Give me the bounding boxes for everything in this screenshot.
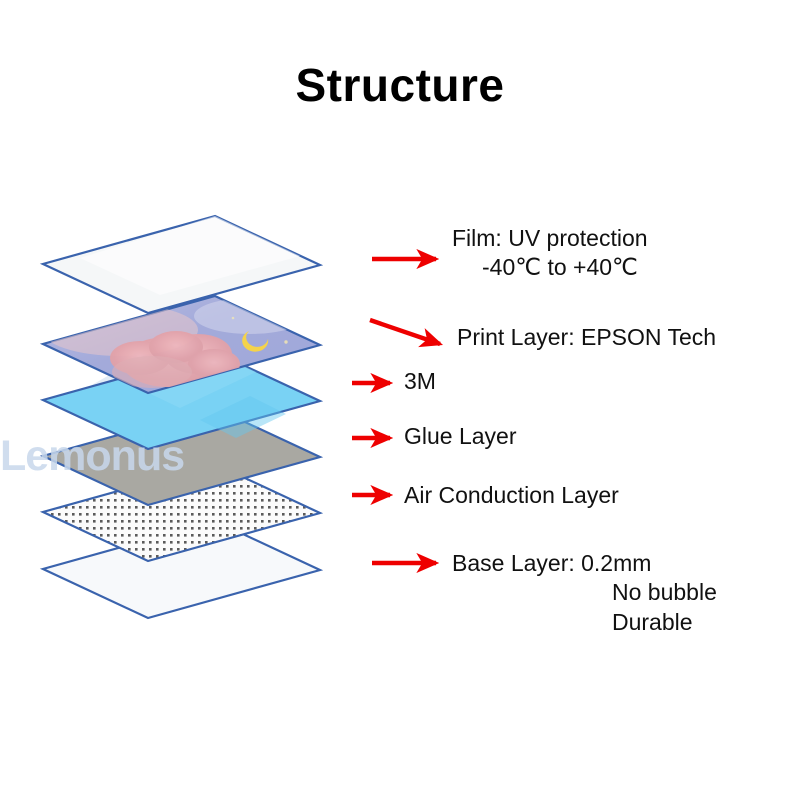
callout-glue-line1: Glue Layer	[404, 422, 517, 451]
callout-film-line2: -40℃ to +40℃	[452, 253, 648, 282]
callout-base-line3: Durable	[452, 608, 717, 637]
callout-base-layer: Base Layer: 0.2mm No bubble Durable	[452, 549, 717, 637]
callout-film-line1: Film: UV protection	[452, 224, 648, 253]
callout-print-layer: Print Layer: EPSON Tech	[457, 323, 716, 352]
watermark-text: Lemonus	[0, 432, 230, 481]
callout-glue-layer: Glue Layer	[404, 422, 517, 451]
callout-3m: 3M	[404, 367, 436, 396]
layer-print	[42, 296, 320, 393]
structure-diagram: Structure	[0, 0, 800, 800]
callout-film: Film: UV protection -40℃ to +40℃	[452, 224, 648, 283]
callout-air-conduction-layer: Air Conduction Layer	[404, 481, 619, 510]
callout-base-line2: No bubble	[452, 578, 717, 607]
callout-air-line1: Air Conduction Layer	[404, 481, 619, 510]
layer-stack-illustration	[0, 0, 800, 800]
callout-print-line1: Print Layer: EPSON Tech	[457, 323, 716, 352]
callout-3m-line1: 3M	[404, 367, 436, 396]
arrow-print	[370, 320, 440, 344]
callout-base-line1: Base Layer: 0.2mm	[452, 549, 717, 578]
layer-film	[43, 216, 320, 313]
